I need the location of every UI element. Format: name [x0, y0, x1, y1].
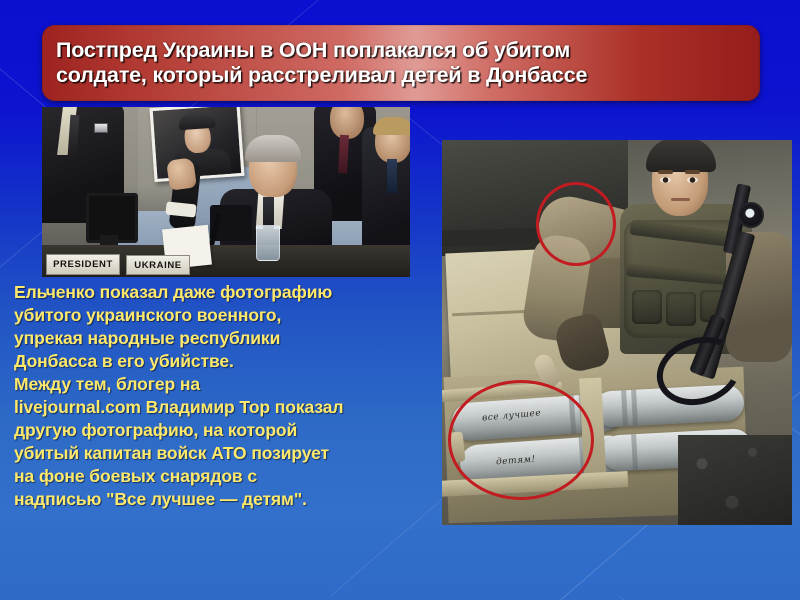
delegate-back-right-2-tie	[387, 159, 397, 193]
gravel-ground	[678, 435, 792, 525]
title-banner: Постпред Украины в ООН поплакался об уби…	[42, 25, 760, 101]
speaker-hair	[245, 135, 301, 162]
delegate-hand	[166, 157, 197, 190]
shell-band	[631, 390, 638, 426]
soldier-eyebrow-right	[685, 170, 700, 174]
nameplate-president: PRESIDENT	[46, 254, 120, 275]
soldier-mouth	[671, 198, 690, 201]
delegate-back-right-2-hair	[373, 117, 410, 135]
soldier-pouch-2	[666, 292, 696, 326]
photo-soldier-with-shells: все лучшее детям!	[442, 140, 792, 525]
water-glass	[256, 225, 280, 261]
slide-canvas: Постпред Украины в ООН поплакался об уби…	[0, 0, 800, 600]
soldier-beanie-hat	[646, 140, 716, 172]
flag-pin-icon	[94, 123, 108, 133]
desk-monitor-stand	[100, 235, 118, 245]
annotation-circle-handwriting	[448, 380, 594, 500]
background-hairline-5	[619, 596, 800, 600]
soldier-eye-left	[660, 177, 671, 183]
nameplate-ukraine: UKRAINE	[126, 255, 190, 275]
soldier-eyebrow-left	[658, 170, 673, 174]
soldier-eye-right	[687, 177, 698, 183]
body-paragraph: Ельченко показал даже фотографию убитого…	[14, 281, 434, 511]
photo-un-security-council: PRESIDENT UKRAINE	[42, 107, 410, 277]
soldier-pouch-1	[632, 290, 662, 324]
annotation-circle-shoulder-patch	[536, 182, 616, 266]
page-title: Постпред Украины в ООН поплакался об уби…	[42, 38, 603, 88]
shell-band	[621, 390, 628, 426]
shell-band	[631, 434, 638, 470]
rifle-optic-sight-icon	[738, 202, 764, 228]
